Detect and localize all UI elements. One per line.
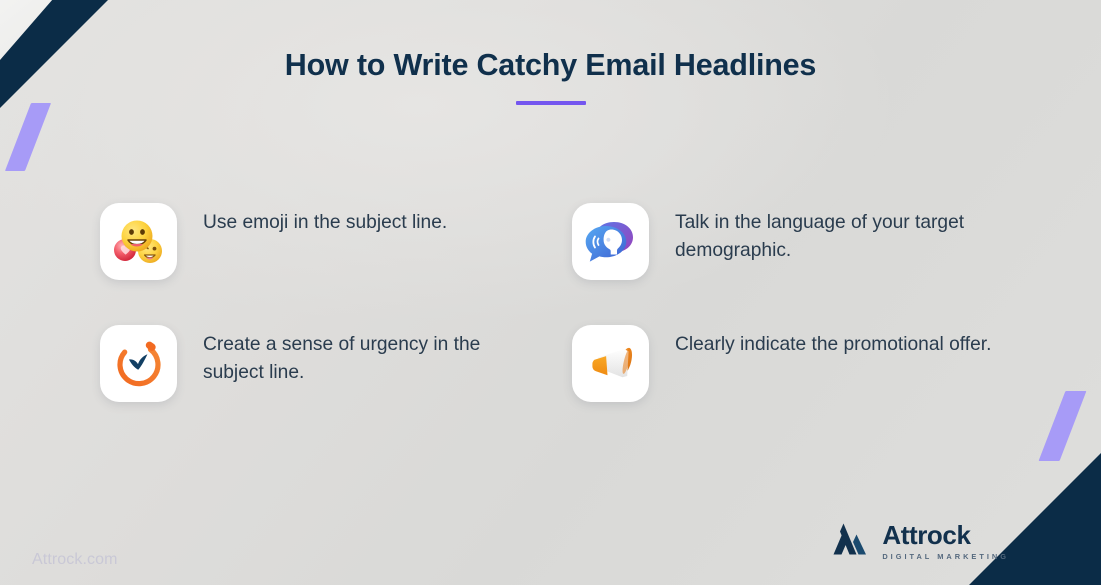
emoji-faces-icon [111,214,167,270]
brand-logo: Attrock DIGITAL MARKETING [829,522,1009,561]
stopwatch-check-icon [112,337,166,391]
accent-bar-top-left [5,103,51,171]
point-text: Use emoji in the subject line. [203,209,447,237]
watermark-url: Attrock.com [32,551,118,569]
point-item: Talk in the language of your target demo… [572,203,1020,280]
point-item: Create a sense of urgency in the subject… [100,325,572,402]
point-text: Clearly indicate the promotional offer. [675,331,991,359]
brand-tagline: DIGITAL MARKETING [882,552,1009,561]
point-item: Clearly indicate the promotional offer. [572,325,1020,402]
point-text: Talk in the language of your target demo… [675,209,1015,265]
points-grid: Use emoji in the subject line. [100,203,1020,402]
icon-card [572,203,649,280]
icon-card [100,325,177,402]
point-text: Create a sense of urgency in the subject… [203,331,543,387]
megaphone-icon [584,337,638,391]
title-block: How to Write Catchy Email Headlines [0,48,1101,105]
corner-triangle-bottom-right [967,451,1101,585]
page-title: How to Write Catchy Email Headlines [0,48,1101,83]
icon-card [100,203,177,280]
attrock-logo-mark-icon [829,522,871,561]
brand-text-block: Attrock DIGITAL MARKETING [882,522,1009,561]
point-item: Use emoji in the subject line. [100,203,572,280]
title-underline [516,101,586,105]
infographic-slide: How to Write Catchy Email Headlines [0,0,1101,585]
speech-bubbles-profile-icon [584,215,638,269]
icon-card [572,325,649,402]
brand-name: Attrock [882,522,1009,548]
